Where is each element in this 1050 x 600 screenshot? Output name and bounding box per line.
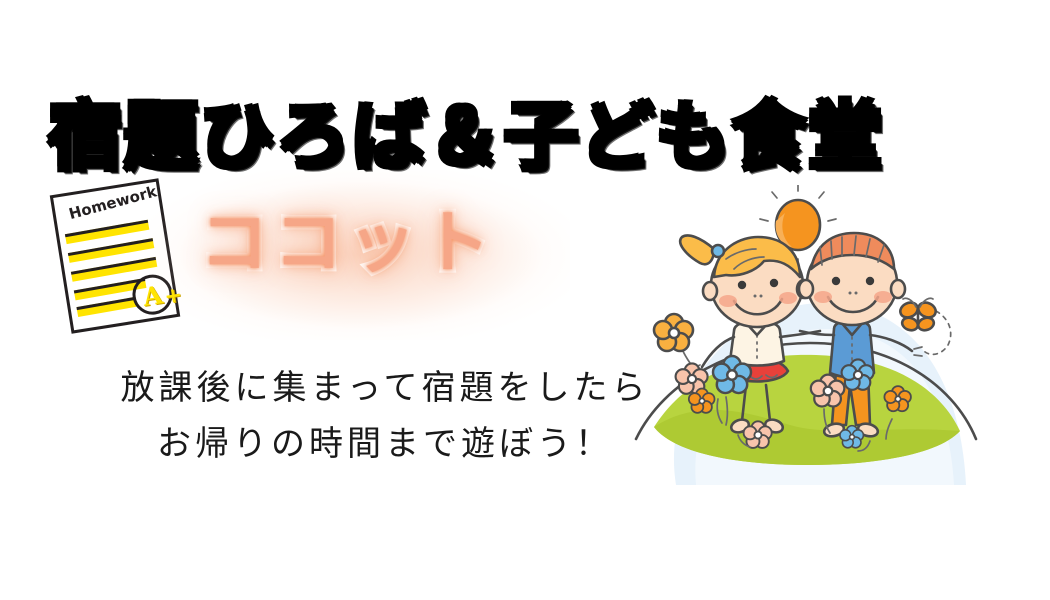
grade-plus: +	[161, 275, 184, 315]
logo-wordmark: ココット	[200, 208, 496, 280]
grade-letter: A	[141, 280, 165, 312]
homework-paper-icon: Homework A +	[50, 178, 181, 333]
subtitle: 放課後に集まって宿題をしたら お帰りの時間まで遊ぼう！	[95, 360, 675, 472]
banner-root: 宿題ひろば＆子ども食堂 Homework A + ココット 放課後に集まって宿題…	[0, 0, 1050, 600]
flower-held-by-girl	[654, 314, 696, 371]
illustration-children-on-hill: .ol{stroke:#4c4c4c;stroke-width:2.6;stro…	[630, 185, 980, 485]
subtitle-line-1: 放課後に集まって宿題をしたら	[95, 360, 675, 416]
subtitle-line-2: お帰りの時間まで遊ぼう！	[95, 416, 675, 472]
page-title: 宿題ひろば＆子ども食堂	[48, 95, 888, 179]
